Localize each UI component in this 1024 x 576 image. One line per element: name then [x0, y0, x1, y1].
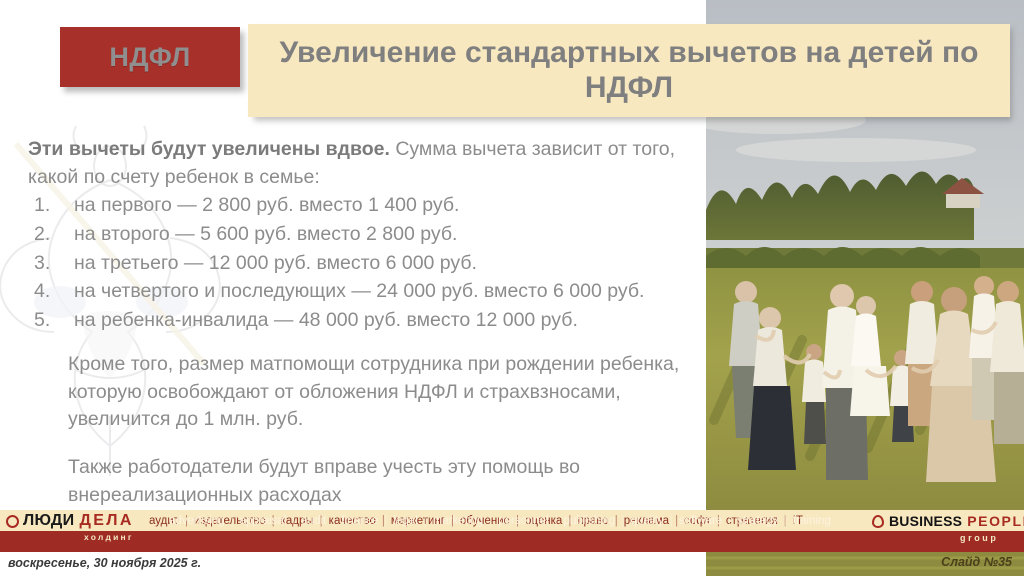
- list-item-index: 1.: [34, 192, 62, 220]
- page-title: Увеличение стандартных вычетов на детей …: [248, 36, 1010, 106]
- note-paragraph-2-wrap: Также работодатели будут вправе учесть э…: [28, 454, 700, 509]
- logo-right-sub: group: [960, 533, 999, 543]
- service-link[interactable]: strategy: [736, 515, 779, 527]
- service-separator: |: [555, 515, 558, 527]
- service-link[interactable]: software: [678, 515, 723, 527]
- logo-business-people[interactable]: BUSINESS PEOPLE group: [872, 510, 1024, 552]
- services-en-list: advertising|appraisal|audit|finance|lega…: [168, 510, 832, 531]
- logo-right-word2: PEOPLE: [967, 513, 1024, 529]
- service-separator: |: [332, 515, 335, 527]
- note-paragraph-2: Также работодатели будут вправе учесть э…: [28, 454, 700, 509]
- list-item: 5. на ребенка-инвалида — 48 000 руб. вме…: [28, 307, 700, 335]
- service-link[interactable]: appraisal: [239, 515, 288, 527]
- deduction-list: 1. на первого — 2 800 руб. вместо 1 400 …: [28, 192, 700, 334]
- body-content: Эти вычеты будут увеличены вдвое. Сумма …: [28, 136, 700, 509]
- service-separator: |: [621, 515, 624, 527]
- service-link[interactable]: audit: [300, 515, 327, 527]
- service-link[interactable]: finance: [340, 515, 379, 527]
- list-item-text: на ребенка-инвалида — 48 000 руб. вместо…: [74, 309, 578, 331]
- list-item-index: 2.: [34, 221, 62, 249]
- service-separator: |: [292, 515, 295, 527]
- service-separator: |: [728, 515, 731, 527]
- slide: НДФЛ Увеличение стандартных вычетов на д…: [0, 0, 1024, 576]
- note-paragraph-1: Кроме того, размер матпомощи сотрудника …: [28, 351, 700, 434]
- service-separator: |: [784, 515, 787, 527]
- list-item: 1. на первого — 2 800 руб. вместо 1 400 …: [28, 192, 700, 220]
- list-item: 2. на второго — 5 600 руб. вместо 2 800 …: [28, 221, 700, 249]
- service-separator: |: [384, 515, 387, 527]
- note-paragraph-1-wrap: Кроме того, размер матпомощи сотрудника …: [28, 351, 700, 434]
- service-link[interactable]: personnel: [497, 515, 550, 527]
- list-item-text: на второго — 5 600 руб. вместо 2 800 руб…: [74, 223, 457, 245]
- service-link[interactable]: legal: [392, 515, 418, 527]
- bottom-strip: воскресенье, 30 ноября 2025 г. Слайд №35: [0, 552, 1024, 576]
- list-item-index: 5.: [34, 307, 62, 335]
- lead-bold: Эти вычеты будут увеличены вдвое.: [28, 138, 390, 160]
- service-link[interactable]: advertising: [168, 515, 226, 527]
- footer-bar: аудит|издательство|кадры|качество|маркет…: [0, 510, 1024, 552]
- list-item-index: 3.: [34, 250, 62, 278]
- logo-ludi-dela[interactable]: ЛЮДИ ДЕЛА холдинг: [6, 510, 146, 552]
- logo-left-sub: холдинг: [84, 532, 134, 542]
- logo-right-word1: BUSINESS: [889, 513, 962, 529]
- slide-number: Слайд №35: [941, 555, 1012, 569]
- ring-icon: [6, 515, 19, 528]
- service-separator: |: [489, 515, 492, 527]
- slide-date: воскресенье, 30 ноября 2025 г.: [8, 556, 201, 570]
- service-link[interactable]: training: [792, 515, 832, 527]
- list-item: 4. на четвертого и последующих — 24 000 …: [28, 278, 700, 306]
- service-link[interactable]: publishing: [563, 515, 617, 527]
- topic-tag-label: НДФЛ: [109, 42, 190, 73]
- title-banner: Увеличение стандартных вычетов на детей …: [248, 24, 1010, 117]
- list-item-index: 4.: [34, 278, 62, 306]
- topic-tag-ndfl: НДФЛ: [60, 27, 240, 87]
- logo-left-word2: ДЕЛА: [79, 512, 133, 530]
- service-link[interactable]: quality: [629, 515, 664, 527]
- ring-icon: [872, 515, 884, 528]
- service-separator: |: [231, 515, 234, 527]
- service-separator: |: [670, 515, 673, 527]
- footer-services-en-row: [0, 531, 1024, 552]
- list-item-text: на четвертого и последующих — 24 000 руб…: [74, 280, 644, 302]
- list-item-text: на третьего — 12 000 руб. вместо 6 000 р…: [74, 252, 477, 274]
- service-separator: |: [424, 515, 427, 527]
- list-item: 3. на третьего — 12 000 руб. вместо 6 00…: [28, 250, 700, 278]
- service-link[interactable]: marketing: [432, 515, 485, 527]
- logo-left-word1: ЛЮДИ: [23, 512, 74, 530]
- list-item-text: на первого — 2 800 руб. вместо 1 400 руб…: [74, 194, 459, 216]
- lead-paragraph: Эти вычеты будут увеличены вдвое. Сумма …: [28, 136, 700, 191]
